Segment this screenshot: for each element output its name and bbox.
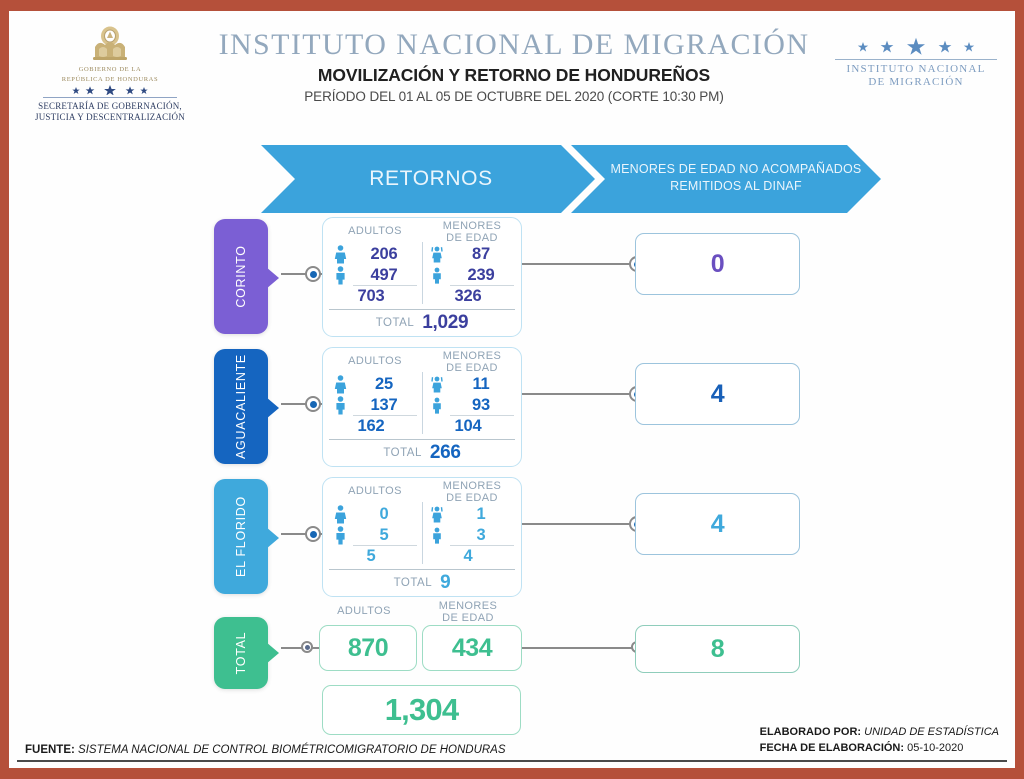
adult-female-icon bbox=[327, 245, 353, 264]
adult-female-icon bbox=[327, 375, 353, 394]
total-row-headers: ADULTOS MENORES DE EDAD bbox=[322, 603, 522, 627]
dinaf-box-total: 8 bbox=[635, 625, 800, 673]
source-note: FUENTE: SISTEMA NACIONAL DE CONTROL BIOM… bbox=[25, 744, 506, 756]
banner-dinaf-line2: REMITIDOS AL DINAF bbox=[591, 178, 881, 195]
inm-line-2: DE MIGRACIÓN bbox=[831, 76, 1001, 89]
adults-female-value: 0 bbox=[353, 505, 423, 524]
minors-column: 1 3 4 bbox=[424, 504, 520, 567]
adults-column: 25 137 162 bbox=[327, 374, 423, 437]
header-adultos: ADULTOS bbox=[329, 225, 421, 237]
card-total-value: 9 bbox=[440, 572, 450, 594]
card-total-label: TOTAL bbox=[376, 317, 415, 329]
header-menores-line1: MENORES bbox=[426, 481, 518, 493]
adults-subtotal-value: 5 bbox=[327, 547, 423, 566]
adults-male-line: 137 bbox=[327, 395, 423, 416]
minors-subtotal-line: 326 bbox=[424, 286, 520, 307]
tab-notch-icon bbox=[266, 642, 279, 664]
adults-male-value: 497 bbox=[353, 266, 423, 285]
child-boy-icon bbox=[424, 397, 450, 414]
station-tab-el-florido[interactable]: EL FLORIDO bbox=[214, 479, 268, 594]
page-subtitle: MOVILIZACIÓN Y RETORNO DE HONDUREÑOS bbox=[204, 63, 824, 87]
inm-logo: INSTITUTO NACIONAL DE MIGRACIÓN bbox=[831, 37, 1001, 89]
gob-line-3: SECRETARÍA DE GOBERNACIÓN, bbox=[21, 101, 199, 112]
header-menores-line2: DE EDAD bbox=[422, 613, 514, 625]
tab-notch-icon bbox=[266, 267, 279, 289]
station-card-corinto: ADULTOS MENORES DE EDAD 206 bbox=[322, 217, 522, 337]
minors-boy-value: 93 bbox=[450, 396, 520, 415]
card-total: TOTAL 266 bbox=[323, 440, 521, 466]
minors-column: 11 93 104 bbox=[424, 374, 520, 437]
elaborated-by-value: UNIDAD DE ESTADÍSTICA bbox=[864, 726, 999, 738]
header-menores-line2: DE EDAD bbox=[426, 493, 518, 505]
minors-subtotal-value: 326 bbox=[424, 287, 520, 306]
five-stars-icon bbox=[831, 37, 1001, 57]
adults-female-value: 25 bbox=[353, 375, 423, 394]
minors-boy-value: 239 bbox=[450, 266, 520, 285]
minors-column: 87 239 326 bbox=[424, 244, 520, 307]
government-logo: GOBIERNO DE LA REPÚBLICA DE HONDURAS SEC… bbox=[21, 25, 199, 123]
total-connector-dot bbox=[301, 641, 313, 653]
section-banner: RETORNOS MENORES DE EDAD NO ACOMPAÑADOS … bbox=[261, 145, 881, 213]
gob-line-2: REPÚBLICA DE HONDURAS bbox=[21, 76, 199, 85]
dinaf-value: 0 bbox=[711, 250, 724, 279]
child-boy-icon bbox=[424, 527, 450, 544]
footer-divider bbox=[17, 760, 1007, 762]
gob-line-4: JUSTICIA Y DESCENTRALIZACIÓN bbox=[21, 112, 199, 123]
station-card-aguacaliente: ADULTOS MENORES DE EDAD 25 bbox=[322, 347, 522, 467]
minors-subtotal-line: 4 bbox=[424, 546, 520, 567]
total-dinaf-connector-line bbox=[522, 647, 637, 649]
adults-male-value: 137 bbox=[353, 396, 423, 415]
five-stars-icon bbox=[21, 85, 199, 95]
card-headers: ADULTOS MENORES DE EDAD bbox=[323, 218, 521, 244]
connector-dot bbox=[305, 526, 321, 542]
child-girl-icon bbox=[424, 246, 450, 263]
inm-divider bbox=[835, 59, 997, 60]
header-menores: MENORES DE EDAD bbox=[422, 601, 514, 624]
connector-dot bbox=[305, 266, 321, 282]
card-total: TOTAL 1,029 bbox=[323, 310, 521, 336]
station-card-el-florido: ADULTOS MENORES DE EDAD 0 bbox=[322, 477, 522, 597]
dinaf-connector-line bbox=[522, 263, 637, 265]
infographic-page: GOBIERNO DE LA REPÚBLICA DE HONDURAS SEC… bbox=[0, 0, 1024, 779]
station-tab-corinto[interactable]: CORINTO bbox=[214, 219, 268, 334]
header-adultos: ADULTOS bbox=[329, 355, 421, 367]
dinaf-connector-line bbox=[522, 393, 637, 395]
station-tab-label: AGUACALIENTE bbox=[214, 349, 268, 464]
page-title: INSTITUTO NACIONAL DE MIGRACIÓN bbox=[204, 27, 824, 63]
header-adultos: ADULTOS bbox=[329, 485, 421, 497]
adult-male-icon bbox=[327, 526, 353, 545]
adults-subtotal-line: 162 bbox=[327, 416, 423, 437]
elaboration-date-line: FECHA DE ELABORACIÓN: 05-10-2020 bbox=[760, 740, 999, 756]
footer: FUENTE: SISTEMA NACIONAL DE CONTROL BIOM… bbox=[9, 720, 1015, 766]
elaboration-date-value: 05-10-2020 bbox=[907, 742, 963, 754]
header-menores-line1: MENORES bbox=[422, 601, 514, 613]
station-tab-label: EL FLORIDO bbox=[214, 479, 268, 594]
total-minors-box: 434 bbox=[422, 625, 522, 671]
header-menores-line1: MENORES bbox=[426, 351, 518, 363]
adult-male-icon bbox=[327, 266, 353, 285]
minors-boy-line: 239 bbox=[424, 265, 520, 286]
tab-notch-icon bbox=[266, 397, 279, 419]
minors-boy-value: 3 bbox=[450, 526, 520, 545]
minors-subtotal-value: 4 bbox=[424, 547, 520, 566]
minors-subtotal-line: 104 bbox=[424, 416, 520, 437]
title-block: INSTITUTO NACIONAL DE MIGRACIÓN MOVILIZA… bbox=[204, 27, 824, 107]
minors-girl-line: 1 bbox=[424, 504, 520, 525]
station-tab-label: CORINTO bbox=[214, 219, 268, 334]
report-period: PERÍODO DEL 01 AL 05 DE OCTUBRE DEL 2020… bbox=[204, 87, 824, 107]
dinaf-box-aguacaliente: 4 bbox=[635, 363, 800, 425]
dinaf-value: 4 bbox=[711, 510, 724, 539]
minors-subtotal-value: 104 bbox=[424, 417, 520, 436]
adults-male-line: 497 bbox=[327, 265, 423, 286]
station-row-el-florido: EL FLORIDO ADULTOS MENORES DE EDAD bbox=[9, 471, 1015, 601]
total-adults-value: 870 bbox=[348, 634, 388, 663]
card-headers: ADULTOS MENORES DE EDAD bbox=[323, 478, 521, 504]
card-total-label: TOTAL bbox=[394, 577, 433, 589]
header-menores: MENORES DE EDAD bbox=[426, 481, 518, 504]
dinaf-connector-line bbox=[522, 523, 637, 525]
dinaf-total-value: 8 bbox=[711, 635, 724, 664]
minors-boy-line: 93 bbox=[424, 395, 520, 416]
minors-girl-value: 11 bbox=[450, 375, 520, 394]
elaborated-by-label: ELABORADO POR: bbox=[760, 726, 861, 738]
header-menores-line2: DE EDAD bbox=[426, 233, 518, 245]
total-adults-box: 870 bbox=[319, 625, 417, 671]
header-menores: MENORES DE EDAD bbox=[426, 221, 518, 244]
tab-notch-icon bbox=[266, 527, 279, 549]
child-girl-icon bbox=[424, 506, 450, 523]
adults-subtotal-value: 703 bbox=[327, 287, 423, 306]
logo-divider bbox=[43, 97, 177, 98]
minors-girl-value: 87 bbox=[450, 245, 520, 264]
adults-female-line: 0 bbox=[327, 504, 423, 525]
banner-dinaf-label: MENORES DE EDAD NO ACOMPAÑADOS REMITIDOS… bbox=[591, 161, 881, 195]
adults-female-line: 25 bbox=[327, 374, 423, 395]
adults-subtotal-line: 703 bbox=[327, 286, 423, 307]
header-adultos: ADULTOS bbox=[318, 605, 410, 617]
minors-girl-line: 11 bbox=[424, 374, 520, 395]
dinaf-value: 4 bbox=[711, 380, 724, 409]
honduras-coat-of-arms-icon bbox=[87, 25, 133, 65]
source-label: FUENTE: bbox=[25, 744, 75, 756]
minors-boy-line: 3 bbox=[424, 525, 520, 546]
header: GOBIERNO DE LA REPÚBLICA DE HONDURAS SEC… bbox=[9, 11, 1015, 123]
adults-subtotal-line: 5 bbox=[327, 546, 423, 567]
adults-male-line: 5 bbox=[327, 525, 423, 546]
card-total: TOTAL 9 bbox=[323, 570, 521, 596]
adults-column: 0 5 5 bbox=[327, 504, 423, 567]
adults-female-line: 206 bbox=[327, 244, 423, 265]
infographic-canvas: GOBIERNO DE LA REPÚBLICA DE HONDURAS SEC… bbox=[9, 11, 1015, 768]
station-row-aguacaliente: AGUACALIENTE ADULTOS MENORES DE EDAD bbox=[9, 341, 1015, 471]
adults-column: 206 497 703 bbox=[327, 244, 423, 307]
card-total-value: 1,029 bbox=[422, 312, 468, 334]
minors-girl-line: 87 bbox=[424, 244, 520, 265]
total-tab[interactable]: TOTAL bbox=[214, 617, 268, 689]
connector-dot bbox=[305, 396, 321, 412]
banner-retornos-label: RETORNOS bbox=[281, 167, 581, 191]
header-menores-line2: DE EDAD bbox=[426, 363, 518, 375]
child-girl-icon bbox=[424, 376, 450, 393]
card-headers: ADULTOS MENORES DE EDAD bbox=[323, 348, 521, 374]
source-value: SISTEMA NACIONAL DE CONTROL BIOMÉTRICOMI… bbox=[78, 744, 505, 756]
child-boy-icon bbox=[424, 267, 450, 284]
adults-male-value: 5 bbox=[353, 526, 423, 545]
card-total-label: TOTAL bbox=[383, 447, 422, 459]
adults-subtotal-value: 162 bbox=[327, 417, 423, 436]
dinaf-box-corinto: 0 bbox=[635, 233, 800, 295]
total-minors-value: 434 bbox=[452, 634, 492, 663]
header-menores: MENORES DE EDAD bbox=[426, 351, 518, 374]
adult-male-icon bbox=[327, 396, 353, 415]
card-body: 25 137 162 bbox=[323, 374, 521, 440]
adults-female-value: 206 bbox=[353, 245, 423, 264]
station-tab-aguacaliente[interactable]: AGUACALIENTE bbox=[214, 349, 268, 464]
card-body: 206 497 703 bbox=[323, 244, 521, 310]
inm-line-1: INSTITUTO NACIONAL bbox=[831, 63, 1001, 76]
gob-line-1: GOBIERNO DE LA bbox=[21, 66, 199, 75]
elaboration-note: ELABORADO POR: UNIDAD DE ESTADÍSTICA FEC… bbox=[760, 724, 999, 756]
card-total-value: 266 bbox=[430, 442, 461, 464]
station-row-corinto: CORINTO ADULTOS MENORES DE EDAD bbox=[9, 211, 1015, 341]
dinaf-box-el-florido: 4 bbox=[635, 493, 800, 555]
header-menores-line1: MENORES bbox=[426, 221, 518, 233]
elaborated-by-line: ELABORADO POR: UNIDAD DE ESTADÍSTICA bbox=[760, 724, 999, 740]
total-tab-label: TOTAL bbox=[214, 617, 268, 689]
elaboration-date-label: FECHA DE ELABORACIÓN: bbox=[760, 742, 904, 754]
banner-dinaf-line1: MENORES DE EDAD NO ACOMPAÑADOS bbox=[591, 161, 881, 178]
card-body: 0 5 5 bbox=[323, 504, 521, 570]
adult-female-icon bbox=[327, 505, 353, 524]
minors-girl-value: 1 bbox=[450, 505, 520, 524]
